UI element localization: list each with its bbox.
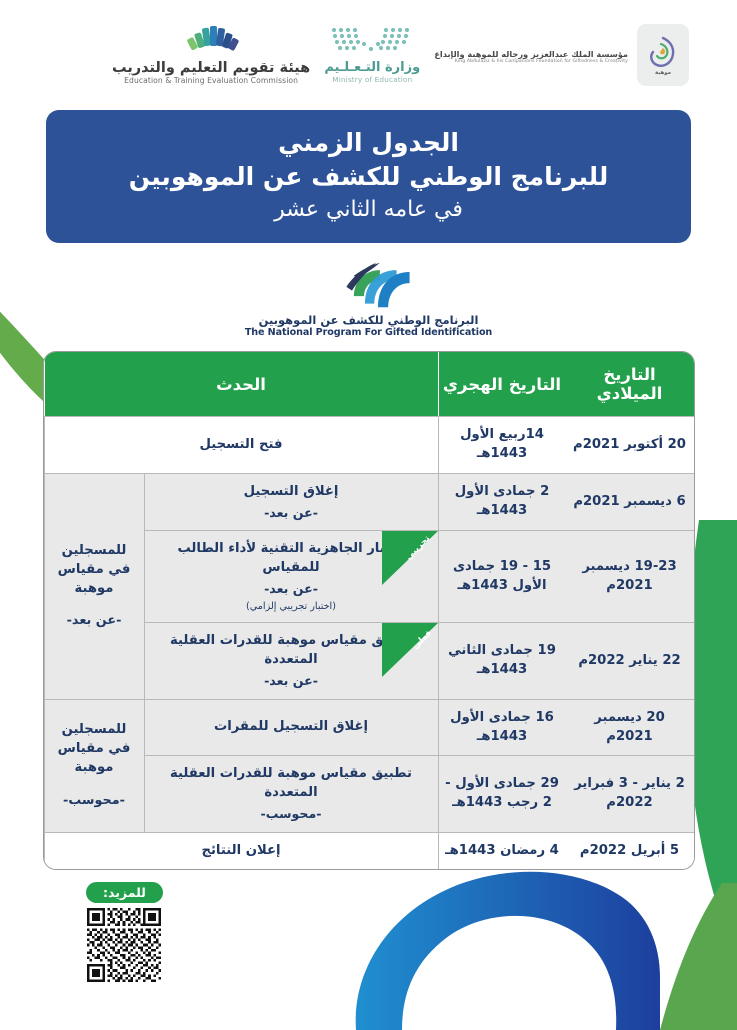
cell-gregorian: 5 أبريل 2022م [566,832,694,870]
event-title: اختبار الجاهزية التقنية لأداء الطالب للم… [177,541,404,575]
group-sublabel: -عن بعد- [51,612,138,630]
event-title: تطبيق مقياس موهبة للقدرات العقلية المتعد… [170,766,412,800]
cell-hijri: 15 - 19 جمادى الأول 1443هـ [438,530,566,622]
logo-etec: هيئة تقويم التعليم والتدريب Education & … [112,24,310,85]
event-note: (اختبار تجريبي إلزامي) [151,600,432,614]
qr-code[interactable] [87,908,161,982]
cell-event: تطبيق مقياس موهبة للقدرات العقلية المتعد… [144,755,438,831]
column-header-hijri: التاريخ الهجري [438,352,566,416]
logo-ministry-of-education: وزارة التـعـلـيم Ministry of Education [324,24,420,84]
title-banner: الجدول الزمني للبرنامج الوطني للكشف عن ا… [46,110,691,243]
cell-gregorian: 20 أكتوبر 2021م [566,416,694,472]
logo-etec-arabic: هيئة تقويم التعليم والتدريب [112,60,310,76]
cell-gregorian: 19-23 ديسمبر 2021م [566,530,694,622]
cell-hijri: 16 جمادى الأول 1443هـ [438,699,566,755]
event-subtitle: -محوسب- [151,805,432,823]
logo-mawhiba-english: King Abdulaziz & his Companions Foundati… [455,59,628,64]
cell-event: تجريبي اختبار الجاهزية التقنية لأداء الط… [144,530,438,622]
cell-gregorian: 2 يناير - 3 فبراير 2022م [566,755,694,831]
cell-hijri: 14ربيع الأول 1443هـ [438,416,566,472]
group-label: للمسجلين في مقياس موهبة [58,722,131,774]
title-line-3: في عامه الثاني عشر [72,194,665,226]
table-header-row: التاريخ الميلادي التاريخ الهجري الحدث [44,352,694,416]
event-title: إعلان النتائج [201,843,280,858]
logo-mawhiba-arabic: مؤسسة الملك عبدالعزيز ورجاله للموهبة وال… [434,49,628,59]
mawhiba-flame-icon [648,35,678,69]
cell-event: إغلاق التسجيل -عن بعد- [144,473,438,531]
cell-gregorian: 22 يناير 2022م [566,622,694,698]
ribbon-trial: تجريبي [382,531,438,585]
program-logo-english: The National Program For Gifted Identifi… [245,327,492,338]
program-logo-arabic: البرنامج الوطني للكشف عن الموهوبين [259,313,479,327]
title-line-2: للبرنامج الوطني للكشف عن الموهوبين [72,160,665,194]
cell-group-computerized: للمسجلين في مقياس موهبة -محوسب- [44,699,144,832]
logo-mawhiba: مؤسسة الملك عبدالعزيز ورجاله للموهبة وال… [434,24,689,86]
cell-event: إغلاق التسجيل للمقرات [144,699,438,755]
gifted-program-signal-icon [300,259,411,311]
cell-hijri: 29 جمادى الأول - 2 رجب 1443هـ [438,755,566,831]
schedule-table-container: التاريخ الميلادي التاريخ الهجري الحدث 20… [44,352,694,869]
cell-hijri: 2 جمادى الأول 1443هـ [438,473,566,531]
table-row: 20 ديسمبر 2021م 16 جمادى الأول 1443هـ إغ… [44,699,694,755]
cell-event: فعلي تطبيق مقياس موهبة للقدرات العقلية ا… [144,622,438,698]
title-line-1: الجدول الزمني [72,126,665,160]
event-title: إغلاق التسجيل للمقرات [214,719,368,734]
ribbon-label: تجريبي [403,534,433,564]
cell-gregorian: 6 ديسمبر 2021م [566,473,694,531]
ribbon-actual: فعلي [382,623,438,677]
ribbon-label: فعلي [410,628,435,653]
event-title: فتح التسجيل [199,437,282,452]
group-sublabel: -محوسب- [51,792,138,810]
event-title: إغلاق التسجيل [244,484,339,499]
table-row: 20 أكتوبر 2021م 14ربيع الأول 1443هـ فتح … [44,416,694,472]
moe-palm-dots-icon [326,24,418,58]
program-logo: البرنامج الوطني للكشف عن الموهوبين The N… [0,259,737,338]
cell-event: إعلان النتائج [44,832,438,870]
logo-moe-arabic: وزارة التـعـلـيم [324,60,420,75]
event-subtitle: -عن بعد- [151,504,432,522]
cell-hijri: 19 جمادى الثاني 1443هـ [438,622,566,698]
qr-section: للمزيد: [86,882,163,982]
header-logo-bar: هيئة تقويم التعليم والتدريب Education & … [0,0,737,90]
cell-gregorian: 20 ديسمبر 2021م [566,699,694,755]
decorative-map-arc [330,865,737,1030]
mawhiba-badge: موهبة [637,24,689,86]
logo-etec-english: Education & Training Evaluation Commissi… [124,76,298,85]
mawhiba-badge-label: موهبة [655,70,671,76]
cell-group-remote: للمسجلين في مقياس موهبة -عن بعد- [44,473,144,699]
qr-label-pill: للمزيد: [86,882,163,903]
column-header-gregorian: التاريخ الميلادي [566,352,694,416]
logo-moe-english: Ministry of Education [332,75,412,84]
etec-leaf-icon [183,24,239,58]
event-title: تطبيق مقياس موهبة للقدرات العقلية المتعد… [170,633,412,667]
table-row: 6 ديسمبر 2021م 2 جمادى الأول 1443هـ إغلا… [44,473,694,531]
table-row: 5 أبريل 2022م 4 رمضان 1443هـ إعلان النتا… [44,832,694,870]
cell-event: فتح التسجيل [44,416,438,472]
cell-hijri: 4 رمضان 1443هـ [438,832,566,870]
group-label: للمسجلين في مقياس موهبة [58,543,131,595]
column-header-event: الحدث [44,352,438,416]
schedule-table: التاريخ الميلادي التاريخ الهجري الحدث 20… [44,352,694,869]
